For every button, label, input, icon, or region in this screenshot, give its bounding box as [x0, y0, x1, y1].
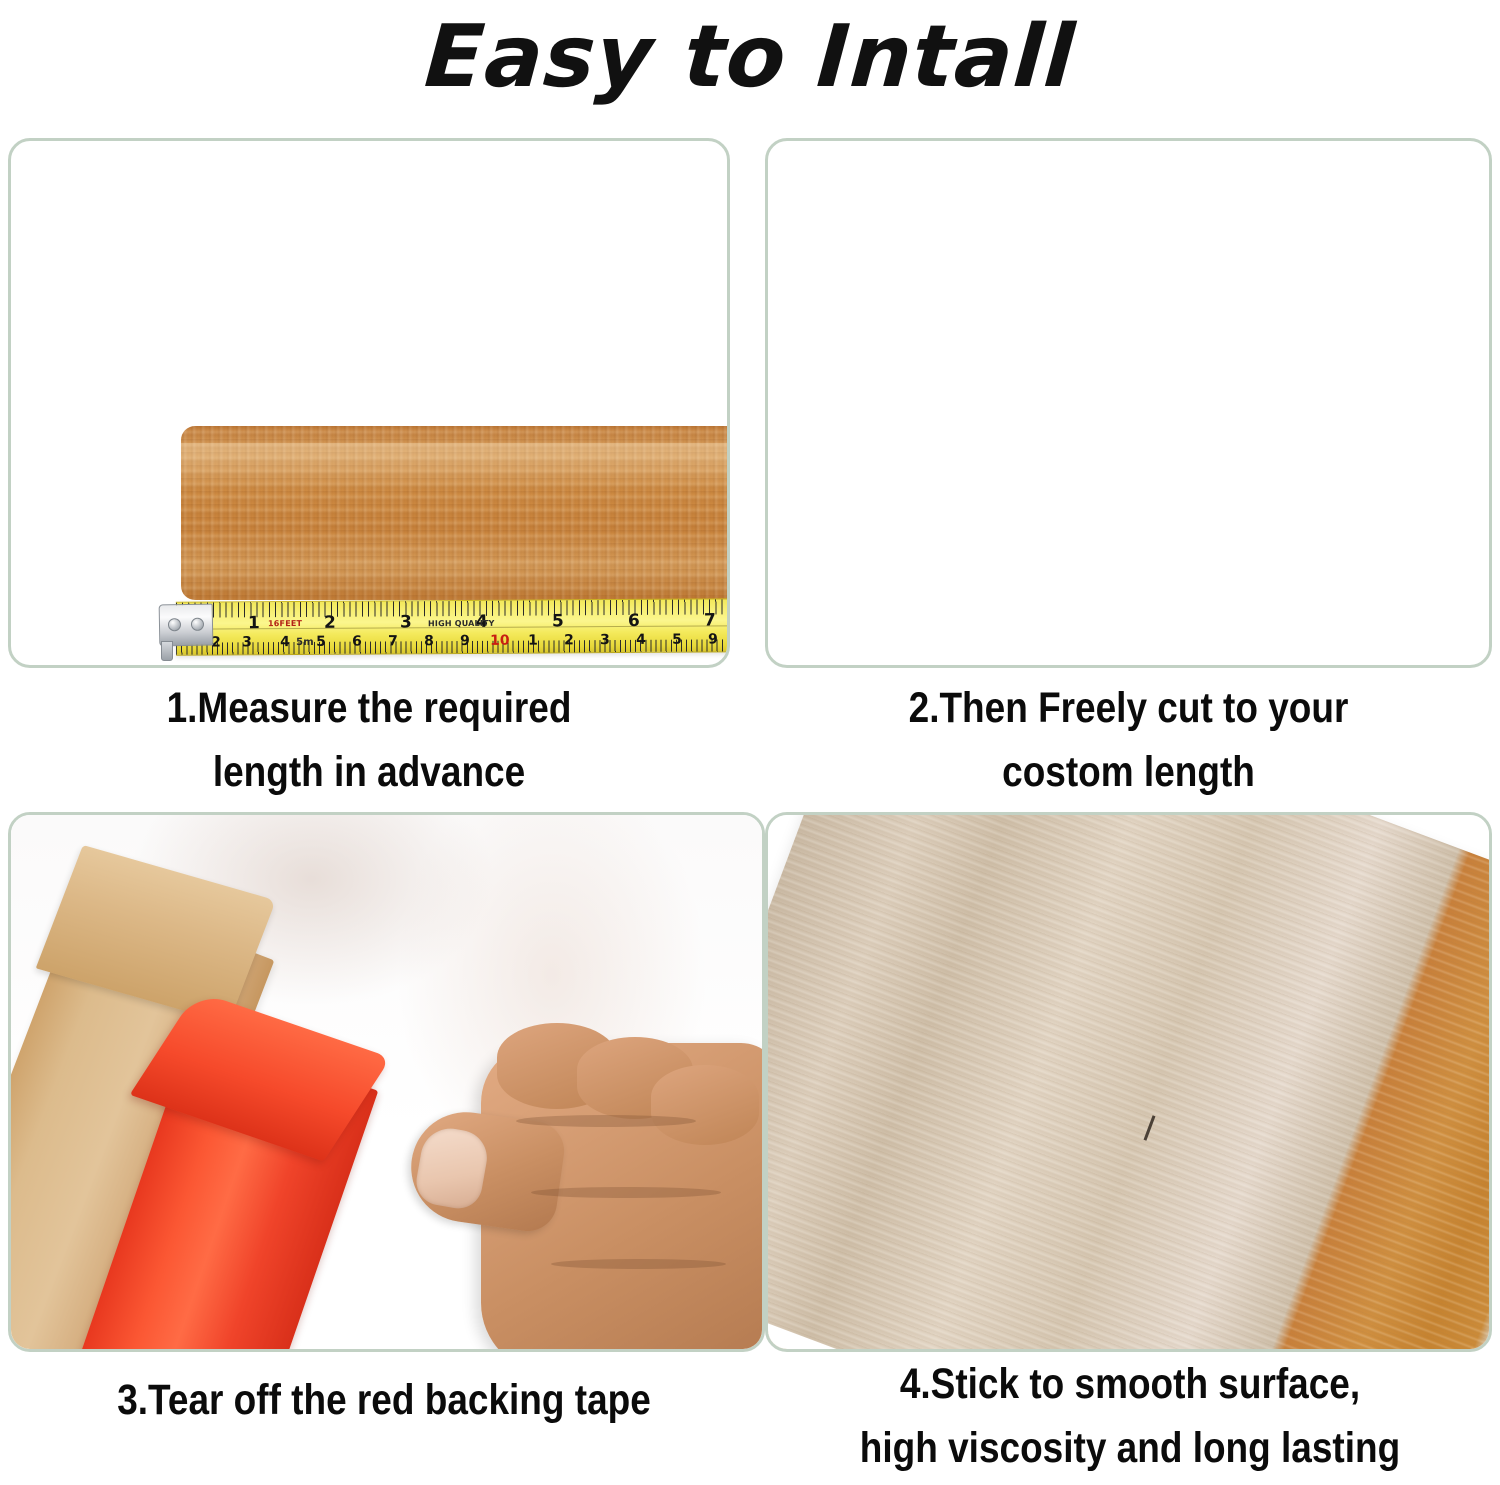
step-4-panel	[765, 812, 1492, 1352]
rivet-icon	[168, 618, 181, 631]
tape-cm-mark: 1	[528, 634, 538, 648]
step-3-caption: 3.Tear off the red backing tape	[54, 1368, 714, 1432]
tape-measure-image: 1 2 3 4 5 6 7 16FEET HIGH QUALITY 5m 2 3…	[176, 598, 730, 655]
tape-cm-mark: 9	[460, 634, 470, 648]
rivet-icon	[191, 618, 204, 631]
tape-inch-mark: 5	[552, 613, 564, 630]
tape-inch-mark: 7	[704, 612, 716, 629]
tape-brand-label: HIGH QUALITY	[428, 620, 495, 628]
tape-cm-mark: 2	[564, 633, 574, 647]
tape-cm-mark-highlight: 10	[490, 634, 510, 648]
laminate-floor-surface	[768, 815, 1489, 1349]
step-1-panel: 1 2 3 4 5 6 7 16FEET HIGH QUALITY 5m 2 3…	[8, 138, 730, 668]
tape-inch-mark: 6	[628, 613, 640, 630]
finger-knuckle	[651, 1065, 759, 1145]
hand-crease	[516, 1115, 696, 1127]
tape-cm-mark: 3	[600, 633, 610, 647]
tape-inch-mark: 2	[324, 615, 336, 632]
step-1-caption: 1.Measure the required length in advance	[59, 676, 680, 804]
installed-trim-photo	[768, 815, 1489, 1349]
tape-cm-mark: 6	[352, 635, 362, 649]
tape-inch-mark: 1	[248, 615, 260, 632]
infographic-page: Easy to Intall 1 2 3 4 5 6 7 16FEET HIGH…	[0, 0, 1500, 1485]
step-2-panel	[765, 138, 1492, 668]
step-4-caption: 4.Stick to smooth surface, high viscosit…	[812, 1352, 1448, 1480]
hand-crease	[551, 1259, 726, 1269]
wood-trim-strip-image	[181, 426, 730, 600]
tape-measure-hook-lip	[161, 641, 173, 661]
tape-inch-mark: 3	[400, 614, 412, 631]
tape-cm-mark: 4	[636, 633, 646, 647]
hand-crease	[531, 1187, 721, 1198]
tape-cm-mark: 4	[280, 635, 290, 649]
tape-cm-mark: 5	[672, 633, 682, 647]
step-3-panel	[8, 812, 765, 1352]
step-2-caption: 2.Then Freely cut to your costom length	[816, 676, 1441, 804]
tape-cm-mark: 8	[424, 634, 434, 648]
tape-cm-mark: 3	[242, 635, 252, 649]
tape-ticks-bottom	[176, 639, 730, 654]
wood-highlight	[181, 443, 730, 488]
tape-cm-mark: 9	[708, 632, 718, 646]
tape-cm-mark: 5	[316, 635, 326, 649]
tape-cm-mark: 7	[388, 634, 398, 648]
tape-length-imperial-label: 16FEET	[268, 620, 302, 628]
peel-backing-tape-photo	[11, 815, 762, 1349]
page-title: Easy to Intall	[0, 2, 1500, 112]
tape-length-metric-label: 5m	[296, 638, 314, 648]
